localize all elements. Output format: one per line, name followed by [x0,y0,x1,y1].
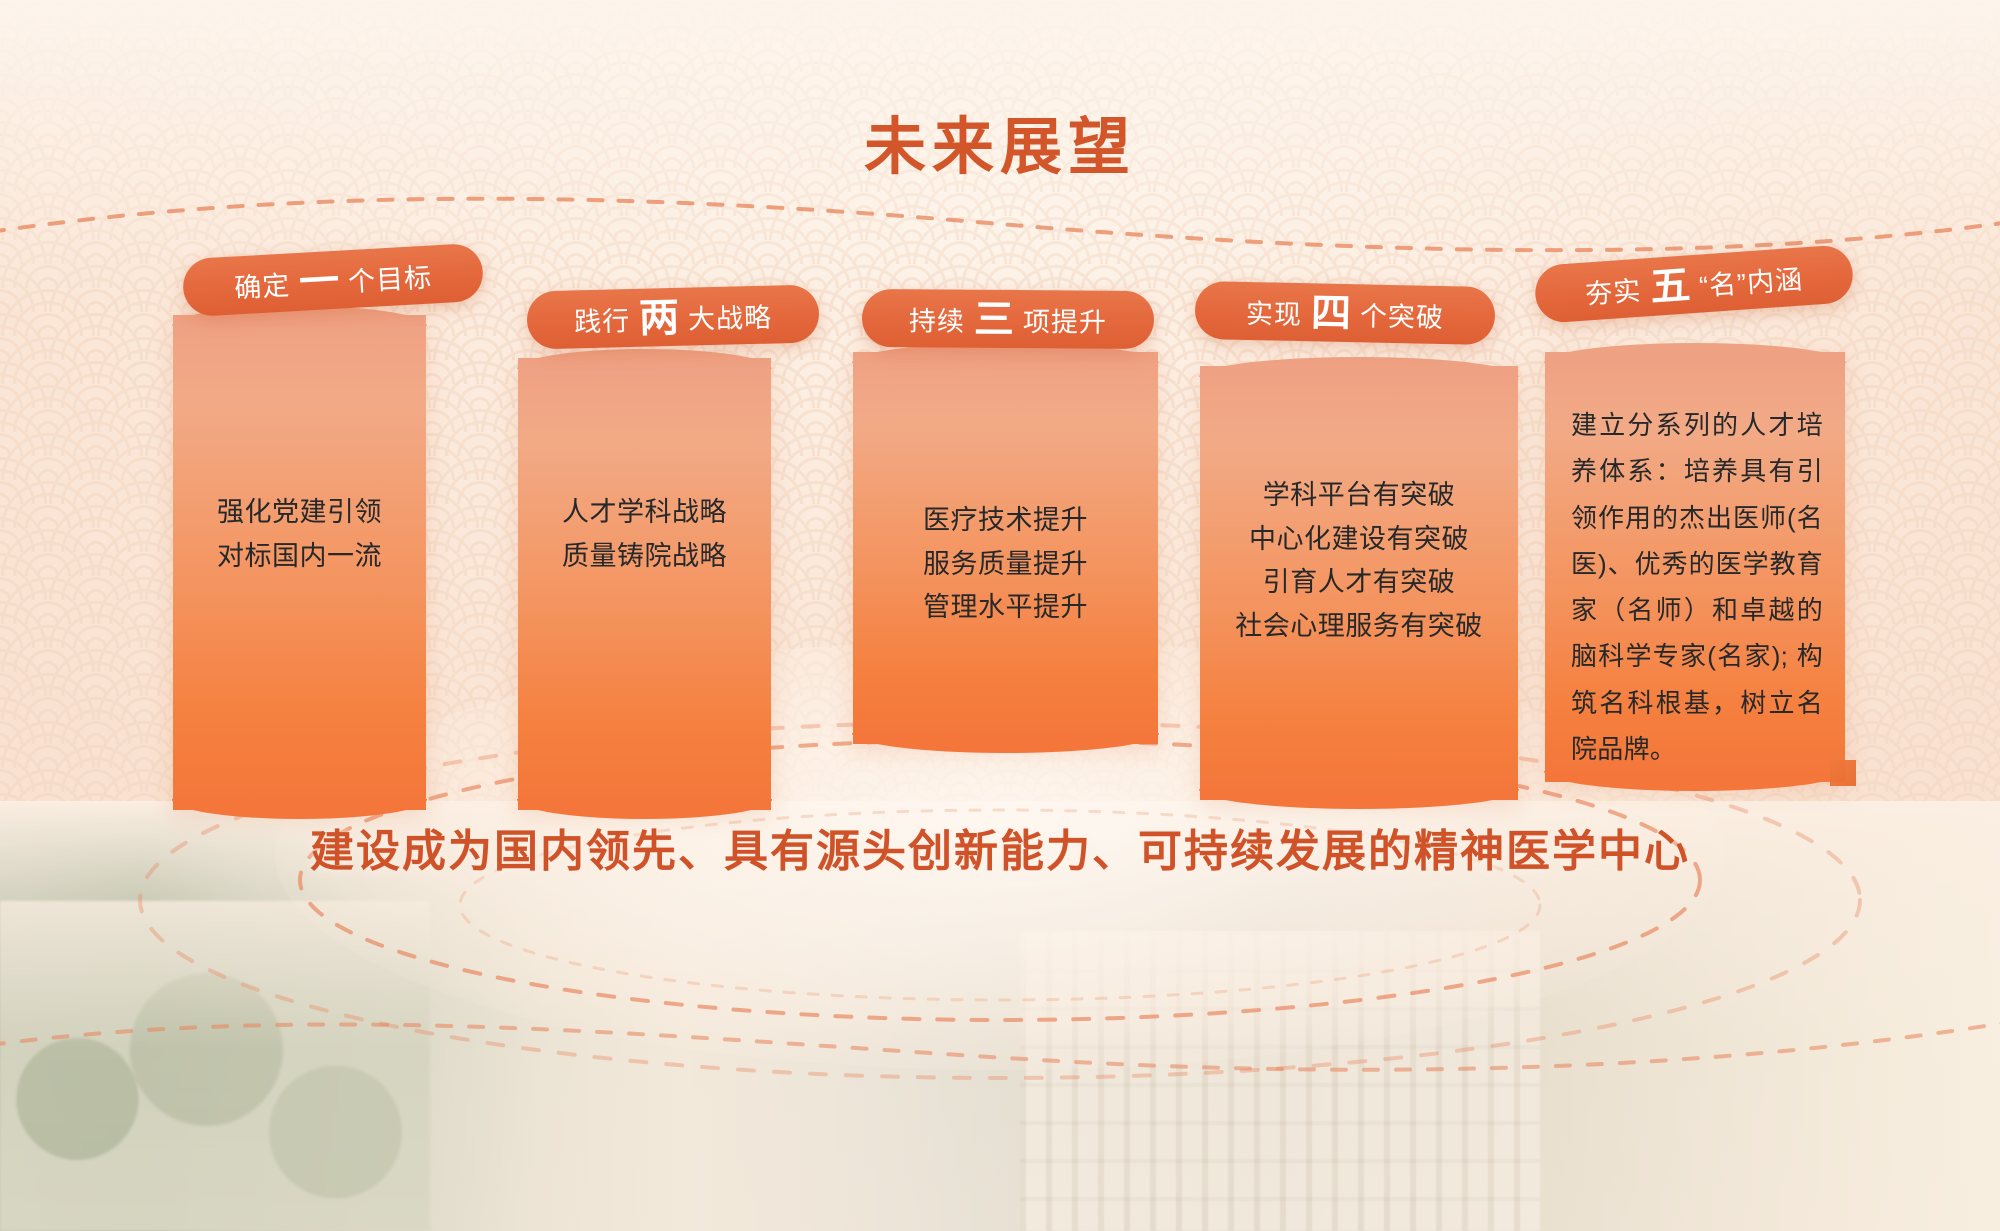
card-4-line-4: 社会心理服务有突破 [1200,605,1518,649]
card-3: 医疗技术提升 服务质量提升 管理水平提升 [853,352,1158,744]
card-1-line-1: 强化党建引领 [173,491,426,535]
card-1-body: 强化党建引领 对标国内一流 [173,491,426,578]
vision-statement: 建设成为国内领先、具有源头创新能力、可持续发展的精神医学中心 [0,815,2000,879]
pill-4-suffix: 个突破 [1360,294,1445,335]
pill-1-suffix: 个目标 [347,255,433,299]
card-2-line-2: 质量铸院战略 [518,535,771,579]
pill-4[interactable]: 实现 四 个突破 [1194,281,1495,345]
background-building-photo [1020,931,1540,1231]
card-2-line-1: 人才学科战略 [518,491,771,535]
pill-4-prefix: 实现 [1246,291,1303,331]
card-2: 人才学科战略 质量铸院战略 [518,358,771,810]
pill-2-number: 两 [639,298,680,339]
pill-1-number: 一 [298,261,340,303]
card-5-paragraph: 建立分系列的人才培养体系：培养具有引领作用的杰出医师(名医)、优秀的医学教育家（… [1571,402,1823,772]
background-trees-photo [0,901,430,1231]
card-2-body: 人才学科战略 质量铸院战略 [518,491,771,578]
card-1-line-2: 对标国内一流 [173,535,426,579]
page-title: 未来展望 [0,96,2000,186]
pill-5-number: 五 [1649,265,1692,308]
pill-5-prefix: 夯实 [1584,268,1643,311]
pill-1-prefix: 确定 [233,263,291,305]
card-3-line-1: 医疗技术提升 [853,499,1158,543]
card-5: 建立分系列的人才培养体系：培养具有引领作用的杰出医师(名医)、优秀的医学教育家（… [1545,352,1845,782]
card-3-line-3: 管理水平提升 [853,586,1158,630]
pill-3-number: 三 [974,300,1014,340]
card-4-line-3: 引育人才有突破 [1200,561,1518,605]
card-3-line-2: 服务质量提升 [853,543,1158,587]
card-3-body: 医疗技术提升 服务质量提升 管理水平提升 [853,499,1158,630]
pill-2-prefix: 践行 [574,299,631,339]
pill-4-number: 四 [1311,293,1352,334]
card-1: 强化党建引领 对标国内一流 [173,315,426,810]
pill-3-prefix: 持续 [909,299,965,338]
pill-3[interactable]: 持续 三 项提升 [862,289,1154,349]
pill-5-suffix: “名”内涵 [1698,257,1804,303]
card-4-line-2: 中心化建设有突破 [1200,518,1518,562]
card-4: 学科平台有突破 中心化建设有突破 引育人才有突破 社会心理服务有突破 [1200,366,1518,800]
card-5-corner-nub [1830,760,1856,786]
slide-root: 未来展望 强化党建引领 对标国内一流 人才学科战略 质量铸院战略 医疗技术提升 … [0,0,2000,1231]
card-4-body: 学科平台有突破 中心化建设有突破 引育人才有突破 社会心理服务有突破 [1200,474,1518,649]
pill-3-suffix: 项提升 [1023,300,1107,340]
pill-2-suffix: 大战略 [688,295,773,336]
card-4-line-1: 学科平台有突破 [1200,474,1518,518]
pill-2[interactable]: 践行 两 大战略 [526,284,819,349]
